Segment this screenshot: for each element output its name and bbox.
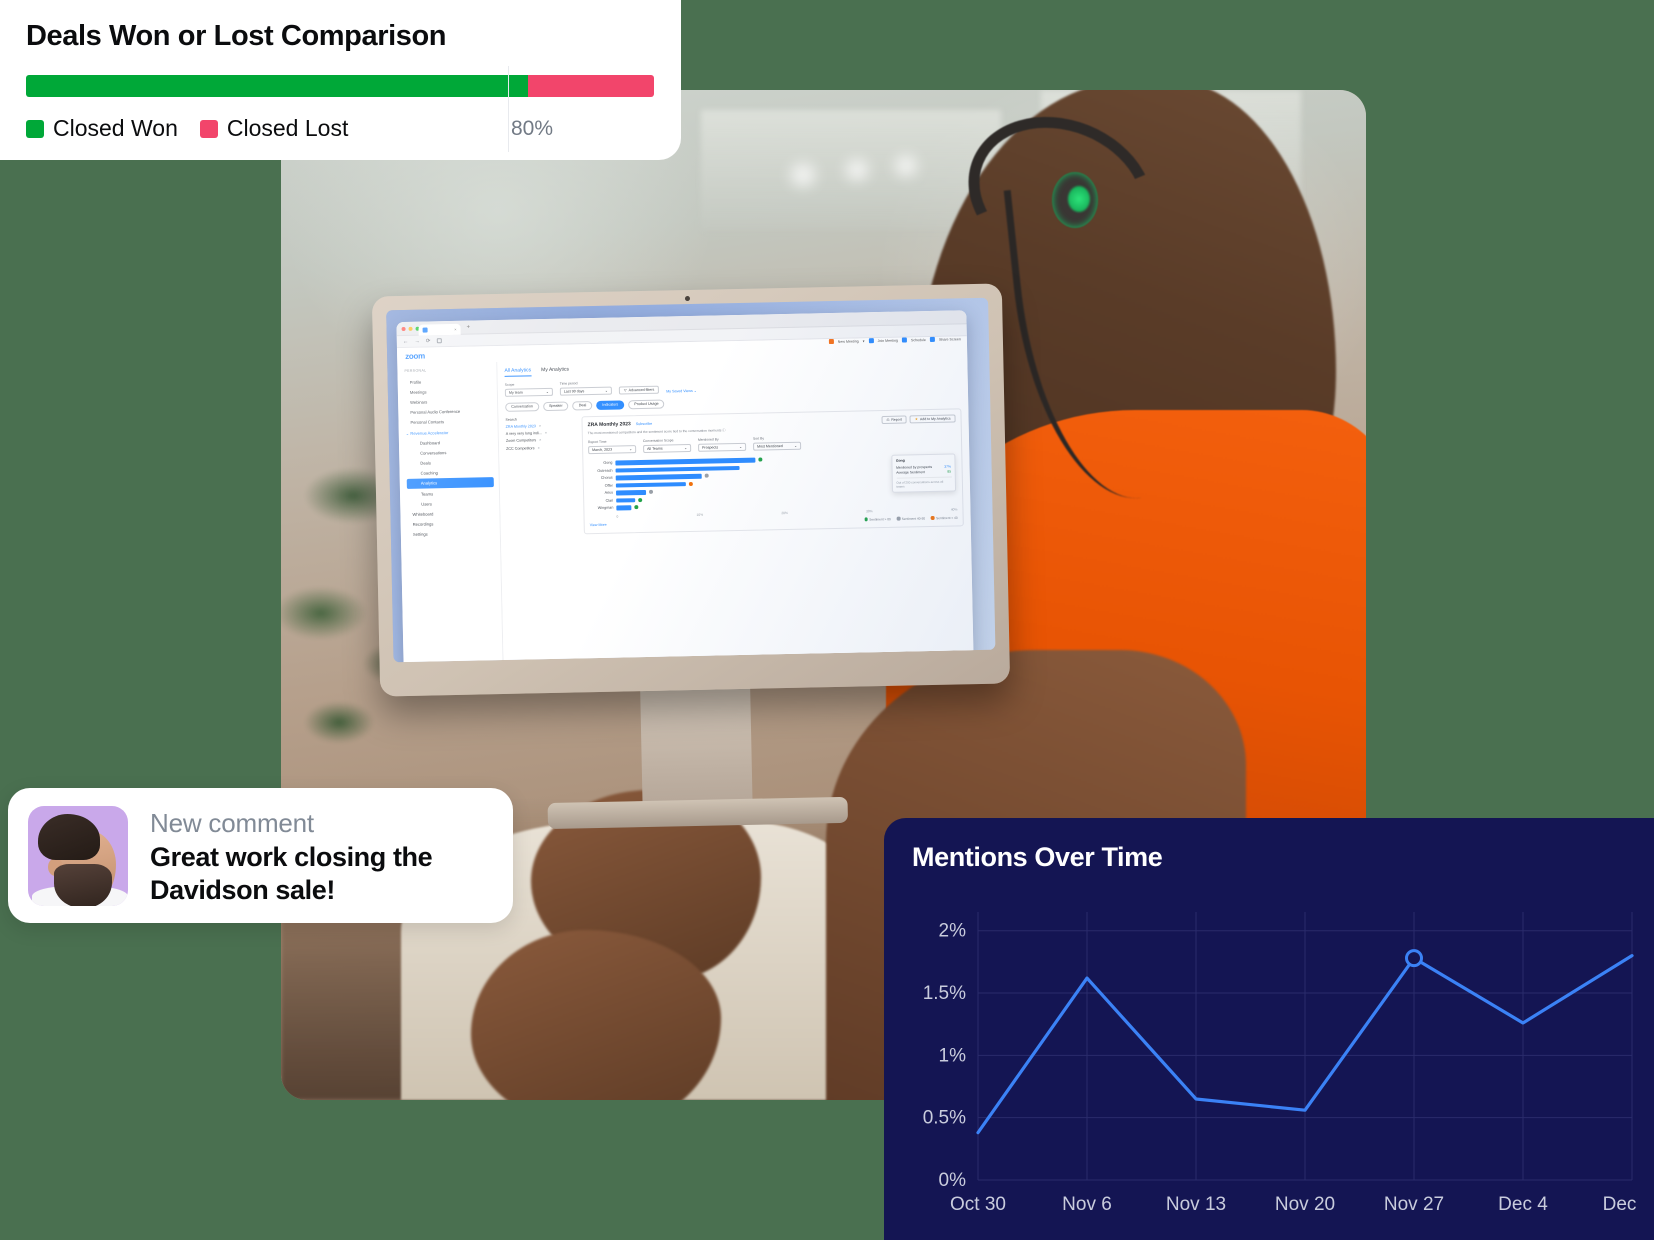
chip-label: ZCC Competitors xyxy=(506,446,535,451)
mentions-over-time-card: Mentions Over Time 0%0.5%1%1.5%2%Oct 30N… xyxy=(884,818,1654,1240)
chip-label: Zoom Competitors xyxy=(506,439,536,444)
svg-text:Dec 11: Dec 11 xyxy=(1603,1194,1642,1215)
ceiling-light xyxy=(887,152,925,180)
desktop-monitor: × + ← → ⟳ zoom xyxy=(372,283,1010,696)
report-title: ZRA Monthly 2023 xyxy=(588,421,631,428)
scope-filter: Scope My team ⌄ xyxy=(505,382,553,397)
search-chip[interactable]: ZCC Competitors× xyxy=(506,445,576,450)
chevron-down-icon: ⌄ xyxy=(546,389,549,393)
legend-item: Sentiment > 80 xyxy=(864,517,891,522)
view-more-link[interactable]: View More xyxy=(590,523,607,527)
legend-closed-lost: Closed Lost xyxy=(200,115,348,142)
search-chip[interactable]: Zoom Competitors× xyxy=(506,438,576,443)
closed-lost-label: Closed Lost xyxy=(227,115,348,142)
report-controls: Report Time March, 2023⌄ Conversation Sc… xyxy=(588,433,956,454)
saved-views-label: My Saved Views xyxy=(666,388,693,393)
mentioned-by-value: Prospects xyxy=(702,445,718,449)
bar-label: Wingman xyxy=(589,506,613,511)
tab-all-analytics[interactable]: All Analytics xyxy=(504,367,531,377)
bar-fill xyxy=(616,482,686,488)
axis-tick: 20% xyxy=(781,511,788,515)
chevron-down-icon: ⌄ xyxy=(605,388,608,392)
svg-text:Nov 20: Nov 20 xyxy=(1275,1194,1335,1215)
sidebar-group-label: PERSONAL xyxy=(404,367,496,373)
mentions-chart: 0%0.5%1%1.5%2%Oct 30Nov 6Nov 13Nov 20Nov… xyxy=(912,896,1654,1240)
scope-value: My team xyxy=(509,390,523,394)
conversation-scope-select[interactable]: All Teams⌄ xyxy=(643,444,691,453)
pill-indicators[interactable]: Indicators xyxy=(596,400,624,410)
chevron-down-icon: ⌄ xyxy=(629,447,632,451)
window-controls[interactable] xyxy=(402,326,420,330)
close-icon[interactable]: × xyxy=(545,431,547,435)
sentiment-dot-gray xyxy=(649,490,653,494)
legend-item: Sentiment 40-80 xyxy=(897,516,925,521)
tooltip-row-label: Mentioned by prospects xyxy=(896,465,932,470)
chevron-down-icon: ⌄ xyxy=(794,443,797,447)
monitor-screen: × + ← → ⟳ zoom xyxy=(386,298,995,663)
comment-message: Great work closing the Davidson sale! xyxy=(150,841,493,907)
axis-tick: 30% xyxy=(866,509,873,513)
sentiment-legend: Sentiment > 80 Sentiment 40-80 Sentiment… xyxy=(864,516,957,522)
svg-text:0%: 0% xyxy=(939,1170,967,1191)
filter-row: Scope My team ⌄ Time period Las xyxy=(505,373,961,396)
svg-text:Dec 4: Dec 4 xyxy=(1498,1194,1548,1215)
deals-percent-label: 80% xyxy=(511,117,553,141)
ceiling-light xyxy=(781,160,825,190)
zoom-favicon xyxy=(423,327,428,332)
deals-comparison-card: Deals Won or Lost Comparison Closed Won … xyxy=(0,0,681,160)
headset-status-light xyxy=(1068,186,1090,212)
app-main: All Analytics My Analytics Scope My team… xyxy=(497,352,974,662)
sentiment-dot-gray xyxy=(705,474,709,478)
add-to-my-analytics-button[interactable]: ★ Add to My Analytics xyxy=(910,414,956,424)
sidebar-item-label: Revenue Accelerator xyxy=(410,430,448,436)
browser-tab[interactable]: × xyxy=(418,323,460,335)
advanced-filters-label: Advanced filters xyxy=(629,387,655,392)
report-card-actions: ⎙ Report ★ Add to My Analytics xyxy=(881,414,955,424)
monitor-stand-neck xyxy=(640,687,752,809)
chevron-down-icon: ⌄ xyxy=(739,445,742,449)
report-card: ⎙ Report ★ Add to My Analytics xyxy=(581,408,963,534)
webcam-icon xyxy=(684,296,689,301)
chevron-down-icon: ⌄ xyxy=(684,446,687,450)
svg-text:1.5%: 1.5% xyxy=(923,983,966,1004)
legend-item: Sentiment < 40 xyxy=(931,516,958,521)
deals-progress-bar xyxy=(26,75,654,97)
axis-tick: 40% xyxy=(951,508,958,512)
app-sidebar: PERSONAL Profile Meetings Webinars Perso… xyxy=(397,362,504,662)
sentiment-dot-green xyxy=(758,458,762,462)
search-column: Search ZRA Monthly 2023× A very very lon… xyxy=(505,416,577,535)
bar-fill xyxy=(616,498,635,503)
reload-icon[interactable]: ⟳ xyxy=(426,338,431,344)
axis-tick: 10% xyxy=(697,513,704,517)
close-tab-icon[interactable]: × xyxy=(454,326,456,331)
svg-text:2%: 2% xyxy=(939,921,967,942)
chip-label: ZRA Monthly 2023 xyxy=(506,424,536,429)
share-screen-icon[interactable] xyxy=(930,337,935,342)
mentions-line-chart-svg: 0%0.5%1%1.5%2%Oct 30Nov 6Nov 13Nov 20Nov… xyxy=(912,896,1642,1226)
close-icon[interactable]: × xyxy=(538,446,540,450)
mentioned-by-control: Mentioned By Prospects⌄ xyxy=(698,437,746,452)
chevron-down-icon[interactable]: ▾ xyxy=(863,339,865,343)
bar-label: Outreach xyxy=(589,469,613,474)
export-report-button[interactable]: ⎙ Report xyxy=(881,415,907,424)
closed-won-swatch xyxy=(26,120,44,138)
browser-window: × + ← → ⟳ zoom xyxy=(396,310,973,662)
pill-deal[interactable]: Deal xyxy=(573,401,593,411)
bar-fill xyxy=(616,490,646,495)
time-period-label: Time period xyxy=(560,381,612,386)
time-period-select[interactable]: Last 90 days ⌄ xyxy=(560,386,612,395)
app-body: PERSONAL Profile Meetings Webinars Perso… xyxy=(397,352,974,662)
legend-closed-won: Closed Won xyxy=(26,115,178,142)
subscribe-link[interactable]: Subscribe xyxy=(636,421,652,425)
bar-tooltip: Gong Mentioned by prospects 37% Average … xyxy=(891,453,956,493)
close-icon[interactable]: × xyxy=(539,424,541,428)
pill-product-usage[interactable]: Product Usage xyxy=(628,399,665,409)
deals-lost-segment xyxy=(528,75,654,97)
schedule-label[interactable]: Schedule xyxy=(911,338,926,342)
sidebar-item-settings[interactable]: Settings xyxy=(408,528,500,540)
sort-by-select[interactable]: Most Mentioned⌄ xyxy=(753,441,801,450)
time-period-filter: Time period Last 90 days ⌄ xyxy=(560,381,612,396)
report-time-value: March, 2023 xyxy=(592,447,612,451)
close-icon[interactable]: × xyxy=(539,439,541,443)
scope-label: Scope xyxy=(505,382,553,387)
legend-label: Sentiment > 80 xyxy=(869,517,891,521)
new-comment-card[interactable]: New comment Great work closing the David… xyxy=(8,788,513,923)
bar-label: Chorus xyxy=(589,476,613,481)
ceiling-light xyxy=(837,156,877,184)
svg-text:Oct 30: Oct 30 xyxy=(950,1194,1006,1215)
deals-card-title: Deals Won or Lost Comparison xyxy=(26,20,655,53)
avatar-hair xyxy=(38,814,100,860)
favorite-label: Add to My Analytics xyxy=(920,417,951,422)
lock-icon xyxy=(436,338,441,343)
legend-label: Sentiment 40-80 xyxy=(902,517,925,521)
avatar-beard xyxy=(54,864,112,906)
tooltip-note: Out of 200 conversations across all team… xyxy=(896,476,951,488)
comment-header: New comment xyxy=(150,808,493,839)
mentioned-by-select[interactable]: Prospects⌄ xyxy=(698,443,746,452)
zoom-logo[interactable]: zoom xyxy=(405,351,425,360)
forward-icon[interactable]: → xyxy=(414,338,420,344)
report-time-control: Report Time March, 2023⌄ xyxy=(588,439,636,454)
search-chip[interactable]: A very very long indi...× xyxy=(506,430,576,435)
join-meeting-icon[interactable] xyxy=(868,338,873,343)
info-icon[interactable]: ⓘ xyxy=(722,428,725,432)
report-time-select[interactable]: March, 2023⌄ xyxy=(588,445,636,454)
axis-tick: 0 xyxy=(617,515,619,519)
avatar xyxy=(28,806,128,906)
sort-by-label: Sort By xyxy=(753,436,801,441)
conversation-scope-label: Conversation Scope xyxy=(643,438,691,443)
schedule-icon[interactable] xyxy=(902,337,907,342)
back-icon[interactable]: ← xyxy=(403,338,409,344)
chip-label: A very very long indi... xyxy=(506,431,542,436)
legend-label: Sentiment < 40 xyxy=(936,516,958,520)
bar-label: Offer xyxy=(589,484,613,489)
closed-won-label: Closed Won xyxy=(53,115,178,142)
tooltip-row: Average Sentiment 85 xyxy=(896,470,951,475)
sentiment-dot-orange xyxy=(689,482,693,486)
scope-select[interactable]: My team ⌄ xyxy=(505,387,553,396)
minimize-icon[interactable] xyxy=(409,326,413,330)
bar-label: Ariso xyxy=(589,491,613,496)
comment-texts: New comment Great work closing the David… xyxy=(150,806,493,907)
bar-label: Gong xyxy=(588,461,612,466)
svg-text:Nov 6: Nov 6 xyxy=(1062,1194,1112,1215)
search-chip[interactable]: ZRA Monthly 2023× xyxy=(506,423,576,428)
search-label: Search xyxy=(505,416,575,421)
deals-tick-line xyxy=(508,66,509,152)
report-description-text: The most mentioned competitors and the s… xyxy=(588,429,722,436)
saved-views-link[interactable]: My Saved Views ⌄ xyxy=(666,388,697,393)
bar-fill xyxy=(616,505,631,510)
sentiment-dot-green xyxy=(634,506,638,510)
deals-legend: Closed Won Closed Lost 80% xyxy=(26,115,655,142)
page-root: × + ← → ⟳ zoom xyxy=(0,0,1654,1240)
svg-text:Nov 13: Nov 13 xyxy=(1166,1194,1226,1215)
sort-by-value: Most Mentioned xyxy=(757,444,783,449)
tooltip-row: Mentioned by prospects 37% xyxy=(896,464,951,469)
report-time-label: Report Time xyxy=(588,439,636,444)
export-label: Report xyxy=(891,418,902,422)
svg-text:Nov 27: Nov 27 xyxy=(1384,1194,1444,1215)
tooltip-title: Gong xyxy=(896,458,951,463)
export-icon: ⎙ xyxy=(887,418,890,422)
filter-icon: ▽ xyxy=(624,388,627,392)
tooltip-row-value: 37% xyxy=(944,464,951,468)
svg-text:0.5%: 0.5% xyxy=(923,1108,966,1129)
share-screen-label[interactable]: Share Screen xyxy=(939,337,961,341)
bar-label: Clari xyxy=(589,499,613,504)
new-tab-button[interactable]: + xyxy=(466,324,470,331)
conversation-scope-value: All Teams xyxy=(647,446,663,450)
svg-text:1%: 1% xyxy=(939,1045,967,1066)
conversation-scope-control: Conversation Scope All Teams⌄ xyxy=(643,438,691,453)
join-meeting-label[interactable]: Join Meeting xyxy=(877,338,897,342)
deals-won-segment xyxy=(26,75,528,97)
pill-speaker[interactable]: Speaker xyxy=(543,401,569,411)
pill-conversation[interactable]: Conversation xyxy=(505,402,539,412)
new-meeting-icon[interactable] xyxy=(829,339,834,344)
tab-my-analytics[interactable]: My Analytics xyxy=(541,367,569,377)
tooltip-row-value: 85 xyxy=(947,470,951,474)
advanced-filters-button[interactable]: ▽ Advanced filters xyxy=(619,385,660,394)
close-icon[interactable] xyxy=(402,326,406,330)
star-icon: ★ xyxy=(915,417,918,421)
tooltip-row-label: Average Sentiment xyxy=(896,470,925,475)
closed-lost-swatch xyxy=(200,120,218,138)
sort-by-control: Sort By Most Mentioned⌄ xyxy=(753,436,801,451)
mentions-card-title: Mentions Over Time xyxy=(912,842,1654,873)
time-period-value: Last 90 days xyxy=(564,389,584,393)
new-meeting-label[interactable]: New Meeting xyxy=(838,339,859,343)
content-columns: Search ZRA Monthly 2023× A very very lon… xyxy=(505,408,963,535)
sentiment-dot-green xyxy=(638,498,642,502)
mentioned-by-label: Mentioned By xyxy=(698,437,746,442)
